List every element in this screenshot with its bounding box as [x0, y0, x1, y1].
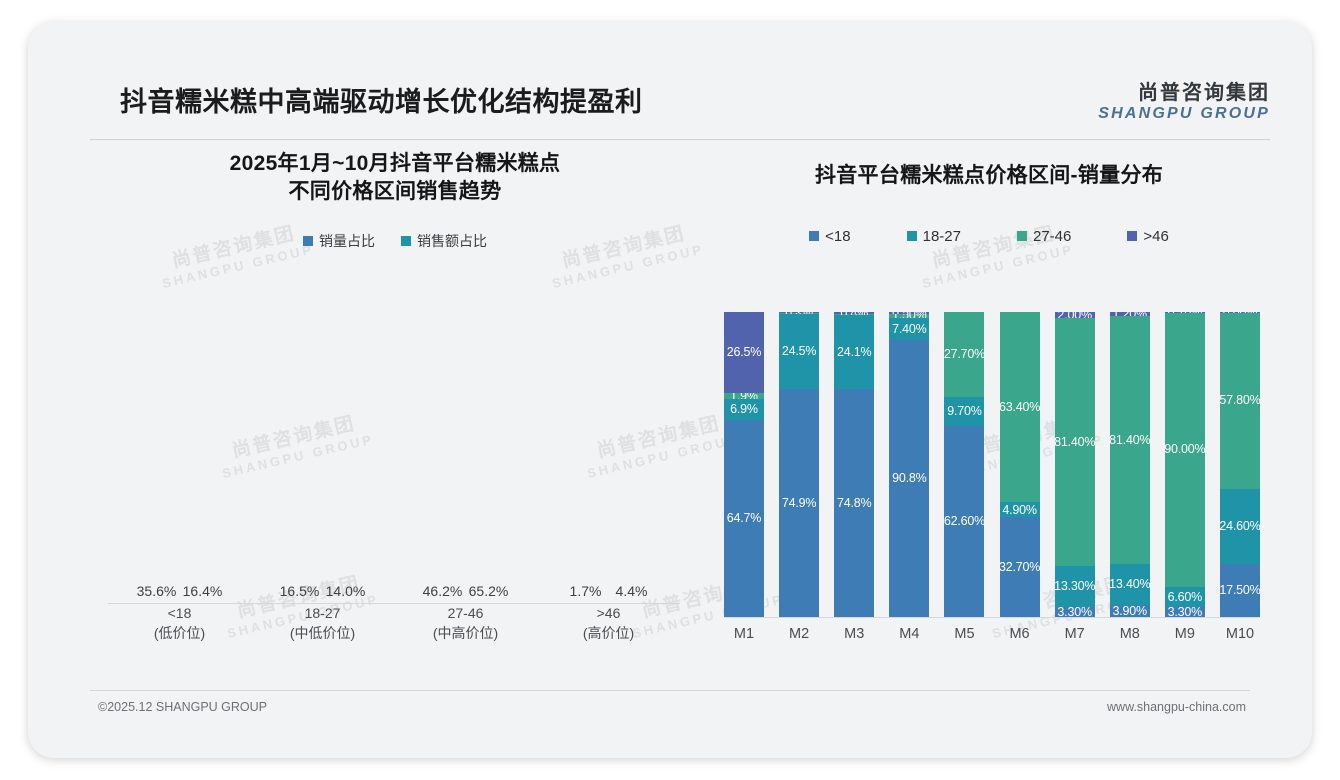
- stacked-bar-segment[interactable]: 62.60%: [944, 426, 984, 617]
- segment-value-label: 7.40%: [892, 323, 926, 336]
- legend-item-2[interactable]: 27-46: [1017, 228, 1071, 245]
- x-axis-tick: >46(高价位): [537, 604, 680, 640]
- stacked-bar-plot-area: 64.7%6.9%1.9%26.5%74.9%24.5%0.4%0.2%74.8…: [724, 312, 1260, 618]
- slide-footer: ©2025.12 SHANGPU GROUP www.shangpu-china…: [90, 690, 1250, 720]
- stacked-bar-segment[interactable]: 6.9%: [724, 399, 764, 420]
- segment-value-label: 81.40%: [1055, 436, 1095, 449]
- stacked-bar-segment[interactable]: 27.70%: [944, 312, 984, 396]
- legend-label: <18: [825, 228, 850, 245]
- stacked-bar-segment[interactable]: 32.70%: [1000, 517, 1040, 617]
- legend-swatch-icon: [809, 231, 819, 241]
- segment-value-label: 24.60%: [1220, 520, 1260, 533]
- segment-value-label: 13.40%: [1110, 578, 1150, 591]
- stacked-bar-segment[interactable]: 0.50%: [889, 312, 929, 314]
- x-axis-tick-label: M1: [724, 626, 764, 642]
- x-axis-tick-label: M6: [1000, 626, 1040, 642]
- left-chart-legend: 销量占比销售额占比: [90, 231, 700, 251]
- segment-value-label: 0.4%: [785, 313, 813, 314]
- stacked-bar-segment[interactable]: 90.8%: [889, 340, 929, 617]
- segment-value-label: 13.30%: [1055, 580, 1095, 593]
- x-axis-tick-label: >46: [537, 604, 680, 624]
- x-axis-tick-label: M3: [834, 626, 874, 642]
- x-axis-tick: 27-46(中高价位): [394, 604, 537, 640]
- x-axis-tick-label: M8: [1110, 626, 1150, 642]
- stacked-bar-segment[interactable]: 0.4%: [779, 313, 819, 314]
- left-chart-title-line1: 2025年1月~10月抖音平台糯米糕点: [90, 150, 700, 178]
- bar-value-label: 35.6%: [137, 583, 177, 599]
- segment-value-label: 63.40%: [1000, 401, 1040, 414]
- brand-logo: 尚普咨询集团 SHANGPU GROUP: [1098, 82, 1270, 123]
- stacked-bar-column[interactable]: 74.8%24.1%0.6%0.4%: [834, 312, 874, 617]
- legend-label: 18-27: [923, 228, 961, 245]
- stacked-bar-segment[interactable]: 0.2%: [779, 312, 819, 313]
- stacked-bar-segment[interactable]: 63.40%: [1000, 312, 1040, 502]
- stacked-bar-segment[interactable]: 1.20%: [1110, 312, 1150, 316]
- x-axis-tick-sublabel: (中高价位): [394, 624, 537, 644]
- legend-swatch-icon: [1127, 231, 1137, 241]
- stacked-bar-segment[interactable]: 24.1%: [834, 315, 874, 389]
- segment-value-label: 90.8%: [892, 472, 926, 485]
- segment-value-label: 0.2%: [785, 312, 813, 313]
- stacked-bar-column[interactable]: 62.60%9.70%27.70%0.00%: [944, 312, 984, 617]
- segment-value-label: 24.5%: [782, 345, 816, 358]
- segment-value-label: 74.8%: [837, 497, 871, 510]
- slide-canvas: 尚普咨询集团 SHANGPU GROUP 尚普咨询集团 SHANGPU GROU…: [28, 22, 1312, 758]
- right-chart-legend: <1818-2727-46>46: [708, 228, 1270, 245]
- slide-header: 抖音糯米糕中高端驱动增长优化结构提盈利 尚普咨询集团 SHANGPU GROUP: [90, 74, 1270, 140]
- stacked-bar-segment[interactable]: 24.60%: [1220, 489, 1260, 564]
- stacked-bar-segment[interactable]: 2.00%: [1055, 312, 1095, 318]
- segment-value-label: 64.7%: [727, 512, 761, 525]
- x-axis-tick: <18(低价位): [108, 604, 251, 640]
- legend-swatch-icon: [907, 231, 917, 241]
- segment-value-label: 81.40%: [1110, 434, 1150, 447]
- stacked-bar-column[interactable]: 3.30%6.60%90.00%0.10%: [1165, 312, 1205, 617]
- legend-item-1[interactable]: 18-27: [907, 228, 961, 245]
- legend-label: 销量占比: [319, 231, 375, 251]
- x-axis-tick-label: M10: [1220, 626, 1260, 642]
- segment-value-label: 24.1%: [837, 346, 871, 359]
- stacked-bar-segment[interactable]: 57.80%: [1220, 312, 1260, 488]
- x-axis-tick-label: M7: [1055, 626, 1095, 642]
- stacked-bar-segment[interactable]: 9.70%: [944, 397, 984, 427]
- right-chart-panel: 抖音平台糯米糕点价格区间-销量分布 <1818-2727-46>46 64.7%…: [708, 150, 1270, 710]
- bar-value-label: 16.5%: [280, 583, 320, 599]
- stacked-bar-segment[interactable]: 4.90%: [1000, 502, 1040, 517]
- stacked-bar-segment[interactable]: 7.40%: [889, 318, 929, 341]
- legend-swatch-icon: [303, 236, 313, 246]
- segment-value-label: 4.90%: [1002, 504, 1036, 517]
- segment-value-label: 6.60%: [1168, 591, 1202, 604]
- stacked-bar-segment[interactable]: 26.5%: [724, 312, 764, 393]
- segment-value-label: 0.50%: [892, 312, 926, 314]
- stacked-bar-column[interactable]: 17.50%24.60%57.80%0.00%: [1220, 312, 1260, 617]
- bar-group: 35.6%16.4%: [108, 310, 251, 603]
- stacked-bar-column[interactable]: 3.90%13.40%81.40%1.20%: [1110, 312, 1150, 617]
- segment-value-label: 90.00%: [1165, 443, 1205, 456]
- segment-value-label: 3.90%: [1113, 605, 1147, 617]
- stacked-bar-column[interactable]: 32.70%4.90%63.40%0.00%: [1000, 312, 1040, 617]
- right-chart-title: 抖音平台糯米糕点价格区间-销量分布: [708, 150, 1270, 190]
- logo-text-cn: 尚普咨询集团: [1098, 82, 1270, 105]
- legend-item-0[interactable]: 销量占比: [303, 231, 375, 251]
- legend-item-0[interactable]: <18: [809, 228, 850, 245]
- bar-value-label: 46.2%: [423, 583, 463, 599]
- left-chart-panel: 2025年1月~10月抖音平台糯米糕点 不同价格区间销售趋势 销量占比销售额占比…: [90, 150, 700, 710]
- segment-value-label: 74.9%: [782, 497, 816, 510]
- stacked-bar-segment[interactable]: 74.8%: [834, 389, 874, 617]
- stacked-bar-segment[interactable]: 17.50%: [1220, 564, 1260, 617]
- grouped-bar-x-axis: <18(低价位)18-27(中低价位)27-46(中高价位)>46(高价位): [108, 604, 680, 640]
- segment-value-label: 57.80%: [1220, 394, 1260, 407]
- bar-group: 16.5%14.0%: [251, 310, 394, 603]
- x-axis-tick-label: M9: [1165, 626, 1205, 642]
- x-axis-tick-sublabel: (低价位): [108, 624, 251, 644]
- stacked-bar-chart: 64.7%6.9%1.9%26.5%74.9%24.5%0.4%0.2%74.8…: [714, 312, 1266, 652]
- bar-value-label: 1.7%: [570, 583, 602, 599]
- segment-value-label: 0.4%: [840, 312, 868, 314]
- x-axis-tick-label: <18: [108, 604, 251, 624]
- stacked-bar-column[interactable]: 90.8%7.40%1.50%0.50%: [889, 312, 929, 617]
- logo-text-en: SHANGPU GROUP: [1098, 105, 1270, 123]
- x-axis-tick-label: M2: [779, 626, 819, 642]
- stacked-bar-segment[interactable]: 13.30%: [1055, 566, 1095, 607]
- stacked-bar-column[interactable]: 74.9%24.5%0.4%0.2%: [779, 312, 819, 617]
- x-axis-tick: 18-27(中低价位): [251, 604, 394, 640]
- bar-value-label: 4.4%: [616, 583, 648, 599]
- stacked-bar-segment[interactable]: 1.9%: [724, 393, 764, 399]
- x-axis-tick-sublabel: (中低价位): [251, 624, 394, 644]
- footer-copyright: ©2025.12 SHANGPU GROUP: [98, 700, 267, 714]
- segment-value-label: 6.9%: [730, 403, 758, 416]
- stacked-bar-segment[interactable]: 90.00%: [1165, 312, 1205, 587]
- footer-website: www.shangpu-china.com: [1107, 700, 1246, 714]
- stacked-bar-column[interactable]: 64.7%6.9%1.9%26.5%: [724, 312, 764, 617]
- legend-item-3[interactable]: >46: [1127, 228, 1168, 245]
- x-axis-tick-sublabel: (高价位): [537, 624, 680, 644]
- x-axis-tick-label: M4: [889, 626, 929, 642]
- bar-value-label: 16.4%: [183, 583, 223, 599]
- stacked-bar-segment[interactable]: 81.40%: [1055, 318, 1095, 566]
- bar-value-label: 14.0%: [326, 583, 366, 599]
- grouped-bar-plot-area: 35.6%16.4%16.5%14.0%46.2%65.2%1.7%4.4%: [108, 310, 680, 604]
- segment-value-label: 1.20%: [1113, 312, 1147, 316]
- legend-swatch-icon: [1017, 231, 1027, 241]
- segment-value-label: 62.60%: [944, 515, 984, 528]
- stacked-bar-segment[interactable]: 81.40%: [1110, 316, 1150, 564]
- x-axis-tick-label: M5: [944, 626, 984, 642]
- stacked-bar-segment[interactable]: 3.30%: [1055, 607, 1095, 617]
- stacked-bar-column[interactable]: 3.30%13.30%81.40%2.00%: [1055, 312, 1095, 617]
- segment-value-label: 26.5%: [727, 346, 761, 359]
- stacked-bar-segment[interactable]: 6.60%: [1165, 587, 1205, 607]
- stacked-bar-segment[interactable]: 64.7%: [724, 420, 764, 617]
- x-axis-tick-label: 27-46: [394, 604, 537, 624]
- segment-value-label: 27.70%: [944, 348, 984, 361]
- x-axis-tick-label: 18-27: [251, 604, 394, 624]
- segment-value-label: 2.00%: [1057, 312, 1091, 318]
- stacked-bar-segment[interactable]: 3.30%: [1165, 607, 1205, 617]
- segment-value-label: 0.6%: [840, 314, 868, 316]
- left-chart-title: 2025年1月~10月抖音平台糯米糕点 不同价格区间销售趋势: [90, 150, 700, 205]
- page-title: 抖音糯米糕中高端驱动增长优化结构提盈利: [120, 80, 643, 119]
- bar-group: 1.7%4.4%: [537, 310, 680, 603]
- stacked-bar-segment[interactable]: 1.50%: [889, 314, 929, 318]
- segment-value-label: 32.70%: [1000, 561, 1040, 574]
- legend-item-1[interactable]: 销售额占比: [401, 231, 487, 251]
- segment-value-label: 17.50%: [1220, 584, 1260, 597]
- legend-swatch-icon: [401, 236, 411, 246]
- legend-label: 27-46: [1033, 228, 1071, 245]
- grouped-bar-chart: 35.6%16.4%16.5%14.0%46.2%65.2%1.7%4.4% <…: [100, 310, 690, 640]
- stacked-bar-segment[interactable]: 0.6%: [834, 314, 874, 316]
- stacked-bar-x-axis: M1M2M3M4M5M6M7M8M9M10: [724, 618, 1260, 652]
- segment-value-label: 3.30%: [1057, 607, 1091, 617]
- segment-value-label: 1.50%: [892, 314, 926, 318]
- legend-label: 销售额占比: [417, 231, 487, 251]
- left-chart-title-line2: 不同价格区间销售趋势: [90, 178, 700, 206]
- stacked-bar-segment[interactable]: 0.4%: [834, 312, 874, 314]
- bar-value-label: 65.2%: [469, 583, 509, 599]
- stacked-bar-segment[interactable]: 13.40%: [1110, 564, 1150, 605]
- stacked-bar-segment[interactable]: 74.9%: [779, 389, 819, 617]
- segment-value-label: 1.9%: [730, 393, 758, 399]
- bar-group: 46.2%65.2%: [394, 310, 537, 603]
- stacked-bar-segment[interactable]: 24.5%: [779, 314, 819, 389]
- stacked-bar-segment[interactable]: 3.90%: [1110, 605, 1150, 617]
- segment-value-label: 9.70%: [947, 405, 981, 418]
- segment-value-label: 3.30%: [1168, 607, 1202, 617]
- legend-label: >46: [1143, 228, 1168, 245]
